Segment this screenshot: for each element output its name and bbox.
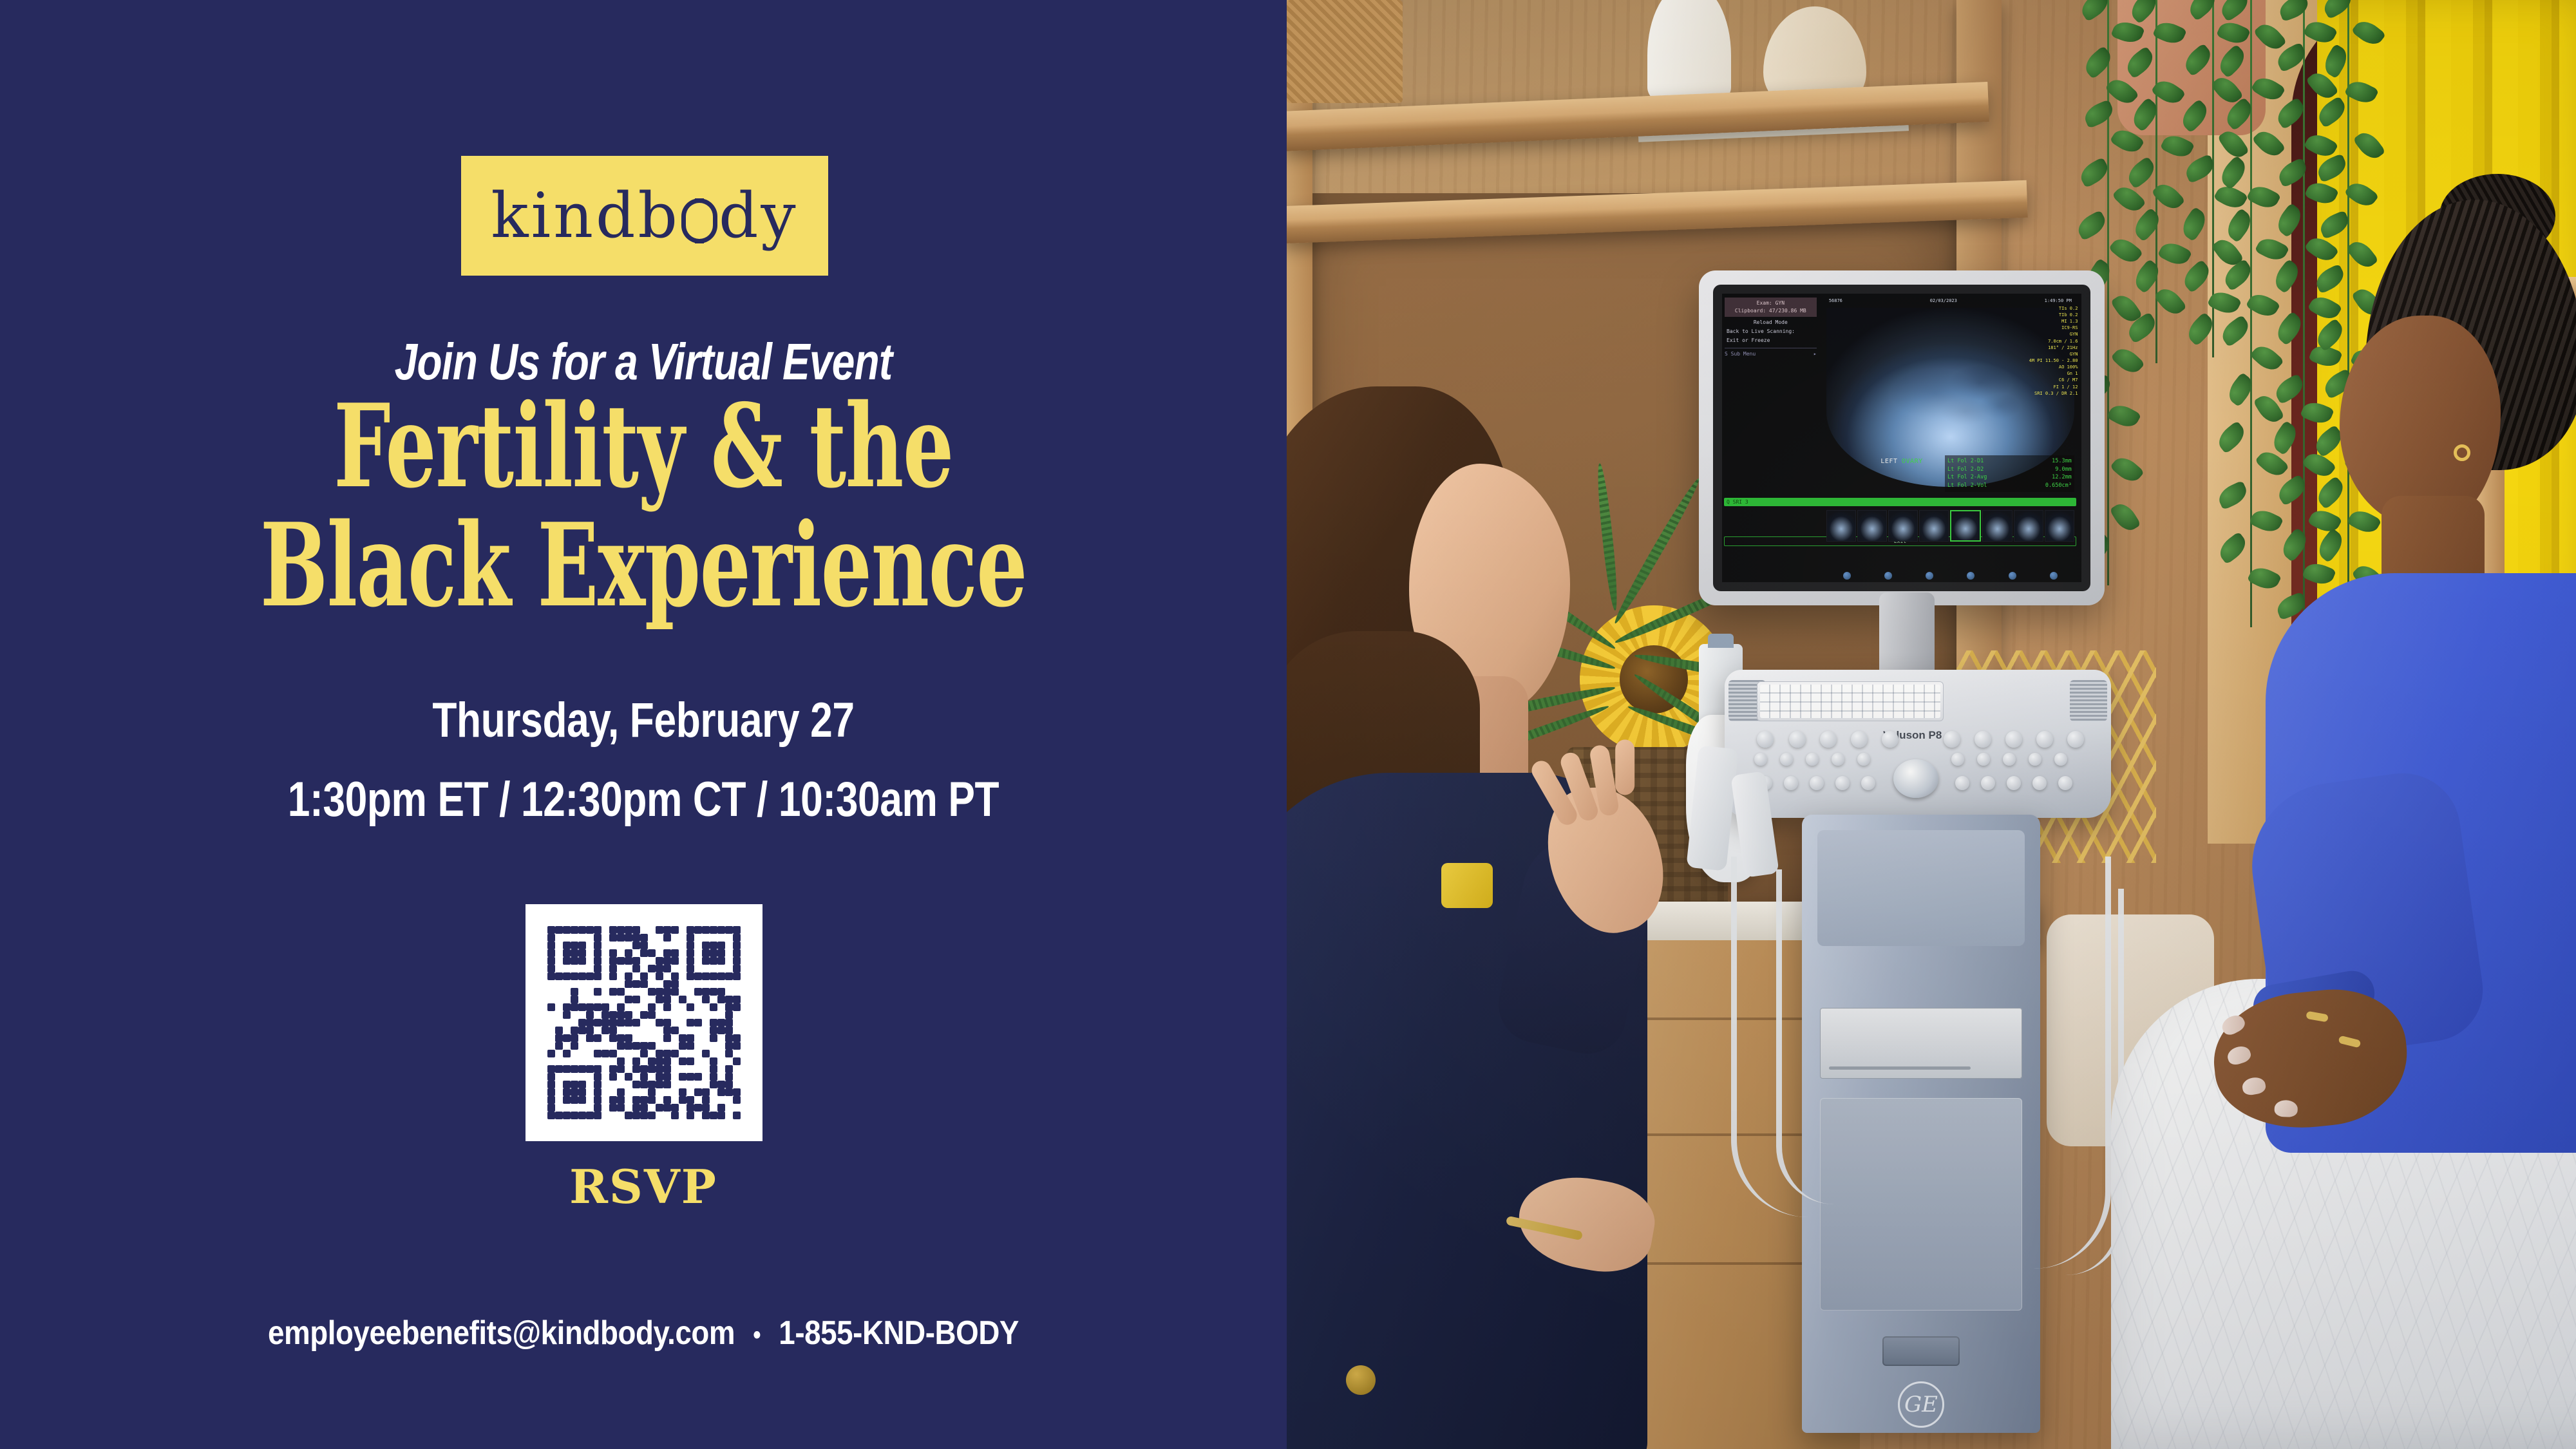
anatomy-label-organ: OVARY — [1902, 458, 1923, 465]
ultrasound-monitor: Exam: GYN Clipboard: 47/230.86 MB Reload… — [1699, 270, 2105, 605]
console-knob[interactable] — [1882, 731, 1899, 748]
vine-leaf — [2109, 500, 2141, 535]
clipboard-label: Clipboard: — [1735, 308, 1766, 314]
scan-parameter: GYN — [2027, 351, 2078, 357]
ultrasound-tower: GE — [1802, 815, 2040, 1433]
scan-thumbnail-strip[interactable] — [1826, 510, 2074, 542]
console-knob[interactable] — [1754, 753, 1767, 766]
vine-leaf — [2108, 233, 2143, 267]
scan-parameter: 4M PI 11.50 - 2.80 — [2027, 357, 2078, 364]
scan-parameters: TIs 0.2TIb 0.2MI 1.3IC9-RSGYN7.0cm / 1.6… — [2027, 305, 2078, 397]
clipboard-value: 47/230.86 MB — [1769, 308, 1806, 314]
probe-id: 56876 — [1829, 298, 1842, 303]
patient-figure — [2227, 213, 2576, 1449]
vine-leaf — [2130, 259, 2164, 294]
ge-logo: GE — [1898, 1381, 1944, 1428]
vine-leaf — [2122, 46, 2157, 79]
control-knob-icon — [2009, 572, 2016, 580]
ultrasound-screen: Exam: GYN Clipboard: 47/230.86 MB Reload… — [1722, 294, 2081, 582]
console-knob[interactable] — [2067, 731, 2084, 748]
measurement-value: 12.2mm — [2052, 473, 2072, 482]
vine-leaf — [2304, 178, 2338, 208]
control-knob-icon — [1884, 572, 1892, 580]
measurement-value: 0.650cm³ — [2045, 482, 2072, 490]
optical-drive[interactable] — [1820, 1008, 2022, 1079]
scan-thumbnail[interactable] — [1888, 510, 1918, 542]
vine-leaf — [2216, 18, 2251, 48]
console-speaker-right — [2070, 680, 2107, 721]
scan-thumbnail[interactable] — [1982, 510, 2012, 542]
vine-leaf — [2106, 401, 2141, 431]
console-knob[interactable] — [1857, 753, 1870, 766]
scan-parameter: Gn 1 — [2027, 370, 2078, 377]
contact-separator: • — [743, 1321, 771, 1349]
scan-thumbnail[interactable] — [1857, 510, 1887, 542]
exam-label: Exam: — [1757, 300, 1772, 306]
scan-thumbnail[interactable] — [1919, 510, 1949, 542]
monitor-bezel: Exam: GYN Clipboard: 47/230.86 MB Reload… — [1713, 285, 2090, 591]
vine-leaf — [2217, 0, 2253, 22]
follicle-measurements: Lt Fol 2-D115.3mmLt Fol 2-D29.0mmLt Fol … — [1945, 455, 2074, 492]
white-vase — [1647, 0, 1731, 107]
vine-leaf — [2315, 96, 2350, 128]
anatomy-label-side: LEFT — [1880, 458, 1897, 465]
scan-parameter: AO 100% — [2027, 364, 2078, 370]
vine-leaf — [2315, 153, 2349, 183]
footer-contact: employeebenefits@kindbody.com • 1-855-KN… — [77, 1314, 1209, 1352]
logo-split-circle-icon — [681, 198, 717, 234]
console-knob[interactable] — [1806, 753, 1819, 766]
rsvp-qr-code[interactable] — [526, 904, 762, 1141]
console-knob[interactable] — [1951, 753, 1964, 766]
clinician-pocket-button — [1346, 1365, 1376, 1395]
ultrasound-console: Voluson P8 — [1725, 670, 2111, 818]
console-knob[interactable] — [1757, 731, 1774, 748]
vine-leaf — [2351, 16, 2387, 50]
measurement-row: Lt Fol 2-Vol0.650cm³ — [1947, 482, 2072, 490]
scan-time: 1:49:50 PM — [2045, 298, 2072, 303]
measurement-value: 9.0mm — [2055, 466, 2072, 474]
console-knob[interactable] — [2029, 753, 2041, 766]
sub-menu-item[interactable]: S Sub Menu ▸ — [1725, 348, 1817, 357]
tower-upper-panel — [1817, 830, 2025, 946]
vine-leaf — [2123, 156, 2159, 190]
sub-menu-label: S Sub Menu — [1725, 351, 1756, 357]
reload-mode-label: Reload Mode — [1725, 319, 1817, 325]
vine-leaf — [2154, 284, 2187, 319]
console-knob[interactable] — [2058, 776, 2072, 790]
screen-control-icons — [1826, 545, 2074, 580]
exam-value: GYN — [1776, 300, 1785, 306]
vine-leaf — [2112, 182, 2146, 216]
kindbody-logo[interactable]: kindbdy — [461, 156, 828, 276]
vine-leaf — [2074, 210, 2109, 241]
vine-leaf — [2157, 238, 2192, 269]
console-knob[interactable] — [2032, 776, 2047, 790]
console-knob[interactable] — [2036, 731, 2053, 748]
scan-thumbnail[interactable] — [1950, 510, 1981, 542]
console-knob[interactable] — [1784, 776, 1798, 790]
console-knob[interactable] — [2005, 731, 2022, 748]
exam-info-box: Exam: GYN Clipboard: 47/230.86 MB — [1725, 298, 1817, 317]
measurement-row: Lt Fol 2-D29.0mm — [1947, 466, 2072, 474]
console-knob[interactable] — [1861, 776, 1875, 790]
event-flyer: kindbdy Join Us for a Virtual Event Fert… — [0, 0, 2576, 1449]
console-knob[interactable] — [1851, 731, 1868, 748]
headline-line-1: Fertility & the — [334, 379, 953, 513]
probe-cable — [1776, 869, 1834, 1204]
vine-leaf — [2081, 99, 2116, 129]
rattan-basket — [1287, 0, 1403, 103]
vine-leaf — [2353, 128, 2385, 164]
measurement-row: Lt Fol 2-Avg12.2mm — [1947, 473, 2072, 482]
measurement-value: 15.3mm — [2052, 457, 2072, 466]
ti-value: MI 1.3 — [2027, 318, 2078, 325]
console-knob[interactable] — [1975, 731, 1991, 748]
scan-date: 02/03/2023 — [1930, 298, 1957, 303]
scan-parameter: 7.0cm / 1.6 — [2027, 338, 2078, 345]
scan-parameter: C6 / M7 — [2027, 377, 2078, 383]
measurement-label: Lt Fol 2-D2 — [1947, 466, 1984, 474]
page-title: Fertility & the Black Experience — [193, 386, 1094, 625]
vine-leaf — [2110, 343, 2145, 377]
console-keyboard[interactable] — [1757, 681, 1944, 721]
console-knob[interactable] — [1955, 776, 1969, 790]
vine-leaf — [2109, 452, 2144, 486]
console-knob[interactable] — [1810, 776, 1824, 790]
scan-parameter: 181° / 21Hz — [2027, 345, 2078, 351]
vine-leaf — [2253, 19, 2287, 53]
console-knobs[interactable] — [1750, 731, 2085, 807]
scan-thumbnail[interactable] — [2014, 510, 2043, 542]
ti-value: TIs 0.2 — [2027, 305, 2078, 312]
vine-leaf — [2179, 260, 2214, 294]
clinic-photograph: Exam: GYN Clipboard: 47/230.86 MB Reload… — [1287, 0, 2576, 1449]
logo-text-suffix: dy — [719, 185, 799, 247]
vine-leaf — [2251, 126, 2286, 161]
vine-leaf — [2215, 44, 2249, 79]
rsvp-label[interactable]: RSVP — [0, 1159, 1287, 1214]
instruction-line-1: Back to Live Scanning: — [1727, 328, 1815, 336]
vine-leaf — [2217, 155, 2251, 190]
control-knob-icon — [1967, 572, 1975, 580]
screen-top-bar: 56876 02/03/2023 1:49:50 PM — [1826, 298, 2074, 303]
console-knob[interactable] — [1981, 776, 1995, 790]
measurement-label: Lt Fol 2-Vol — [1947, 482, 1987, 490]
scan-parameter: IC9-RS — [2027, 325, 2078, 331]
patient-earring — [2454, 444, 2470, 461]
tower-panel — [1820, 1098, 2022, 1311]
vine-leaf — [2185, 0, 2221, 21]
measurement-label: Lt Fol 2-Avg — [1947, 473, 1987, 482]
event-date: Thursday, February 27 — [116, 692, 1171, 748]
measurement-row: Lt Fol 2-D115.3mm — [1947, 457, 2072, 466]
logo-wordmark: kindbdy — [491, 185, 798, 247]
scan-parameter: GYN — [2027, 331, 2078, 337]
vine-leaf — [2181, 43, 2216, 77]
console-knob[interactable] — [1944, 731, 1960, 748]
vine-leaf — [2250, 73, 2286, 105]
info-panel: kindbdy Join Us for a Virtual Event Fert… — [0, 0, 1287, 1449]
contact-phone[interactable]: 1-855-KND-BODY — [779, 1314, 1019, 1352]
control-knob-icon — [1926, 572, 1933, 580]
vine-leaf — [2320, 0, 2355, 19]
sri-button[interactable]: Q SRI 3 — [1724, 498, 2076, 506]
console-knob[interactable] — [1820, 731, 1837, 748]
event-time: 1:30pm ET / 12:30pm CT / 10:30am PT — [116, 772, 1171, 828]
logo-text-prefix: kindb — [491, 185, 680, 247]
vine-leaf — [2081, 45, 2116, 79]
ti-value: TIb 0.2 — [2027, 312, 2078, 318]
measurement-label: Lt Fol 2-D1 — [1947, 457, 1984, 466]
control-knob-icon — [1843, 572, 1851, 580]
headline-line-2: Black Experience — [193, 506, 1094, 625]
probe-ports — [1882, 1336, 1960, 1366]
console-knob[interactable] — [1780, 753, 1793, 766]
vine-leaf — [2277, 0, 2311, 22]
vine-leaf — [2217, 126, 2249, 162]
scan-thumbnail[interactable] — [1826, 510, 1856, 542]
chevron-right-icon: ▸ — [1814, 351, 1817, 357]
scan-parameter: FI 1 / 12 — [2027, 384, 2078, 390]
console-knob[interactable] — [1977, 753, 1990, 766]
clinician-badge — [1441, 863, 1493, 908]
vine-leaf — [2076, 156, 2112, 188]
scan-parameter: SRI 0.3 / DR 2.1 — [2027, 390, 2078, 397]
vine-leaf — [2303, 17, 2338, 48]
vine-leaf — [2177, 99, 2212, 133]
vine-leaf — [2344, 77, 2380, 108]
vine-stem — [2155, 0, 2157, 363]
console-knob[interactable] — [1789, 731, 1806, 748]
console-trackball[interactable] — [1893, 759, 1938, 798]
console-knob[interactable] — [1832, 753, 1844, 766]
qr-module-grid — [547, 926, 741, 1119]
console-knob[interactable] — [2003, 753, 2016, 766]
control-knob-icon — [2050, 572, 2058, 580]
console-knob[interactable] — [1835, 776, 1850, 790]
contact-email[interactable]: employeebenefits@kindbody.com — [268, 1314, 735, 1352]
vine-leaf — [2178, 206, 2211, 241]
console-knob[interactable] — [2054, 753, 2067, 766]
clinician-figure — [1287, 386, 1738, 1449]
vine-leaf — [2344, 178, 2380, 211]
vine-leaf — [2130, 207, 2164, 242]
instruction-line-2: Exit or Freeze — [1727, 337, 1815, 345]
scan-thumbnail[interactable] — [2045, 510, 2074, 542]
anatomy-label: LEFT OVARY — [1880, 458, 1922, 465]
vine-leaf — [2160, 131, 2195, 161]
console-knob[interactable] — [2007, 776, 2021, 790]
